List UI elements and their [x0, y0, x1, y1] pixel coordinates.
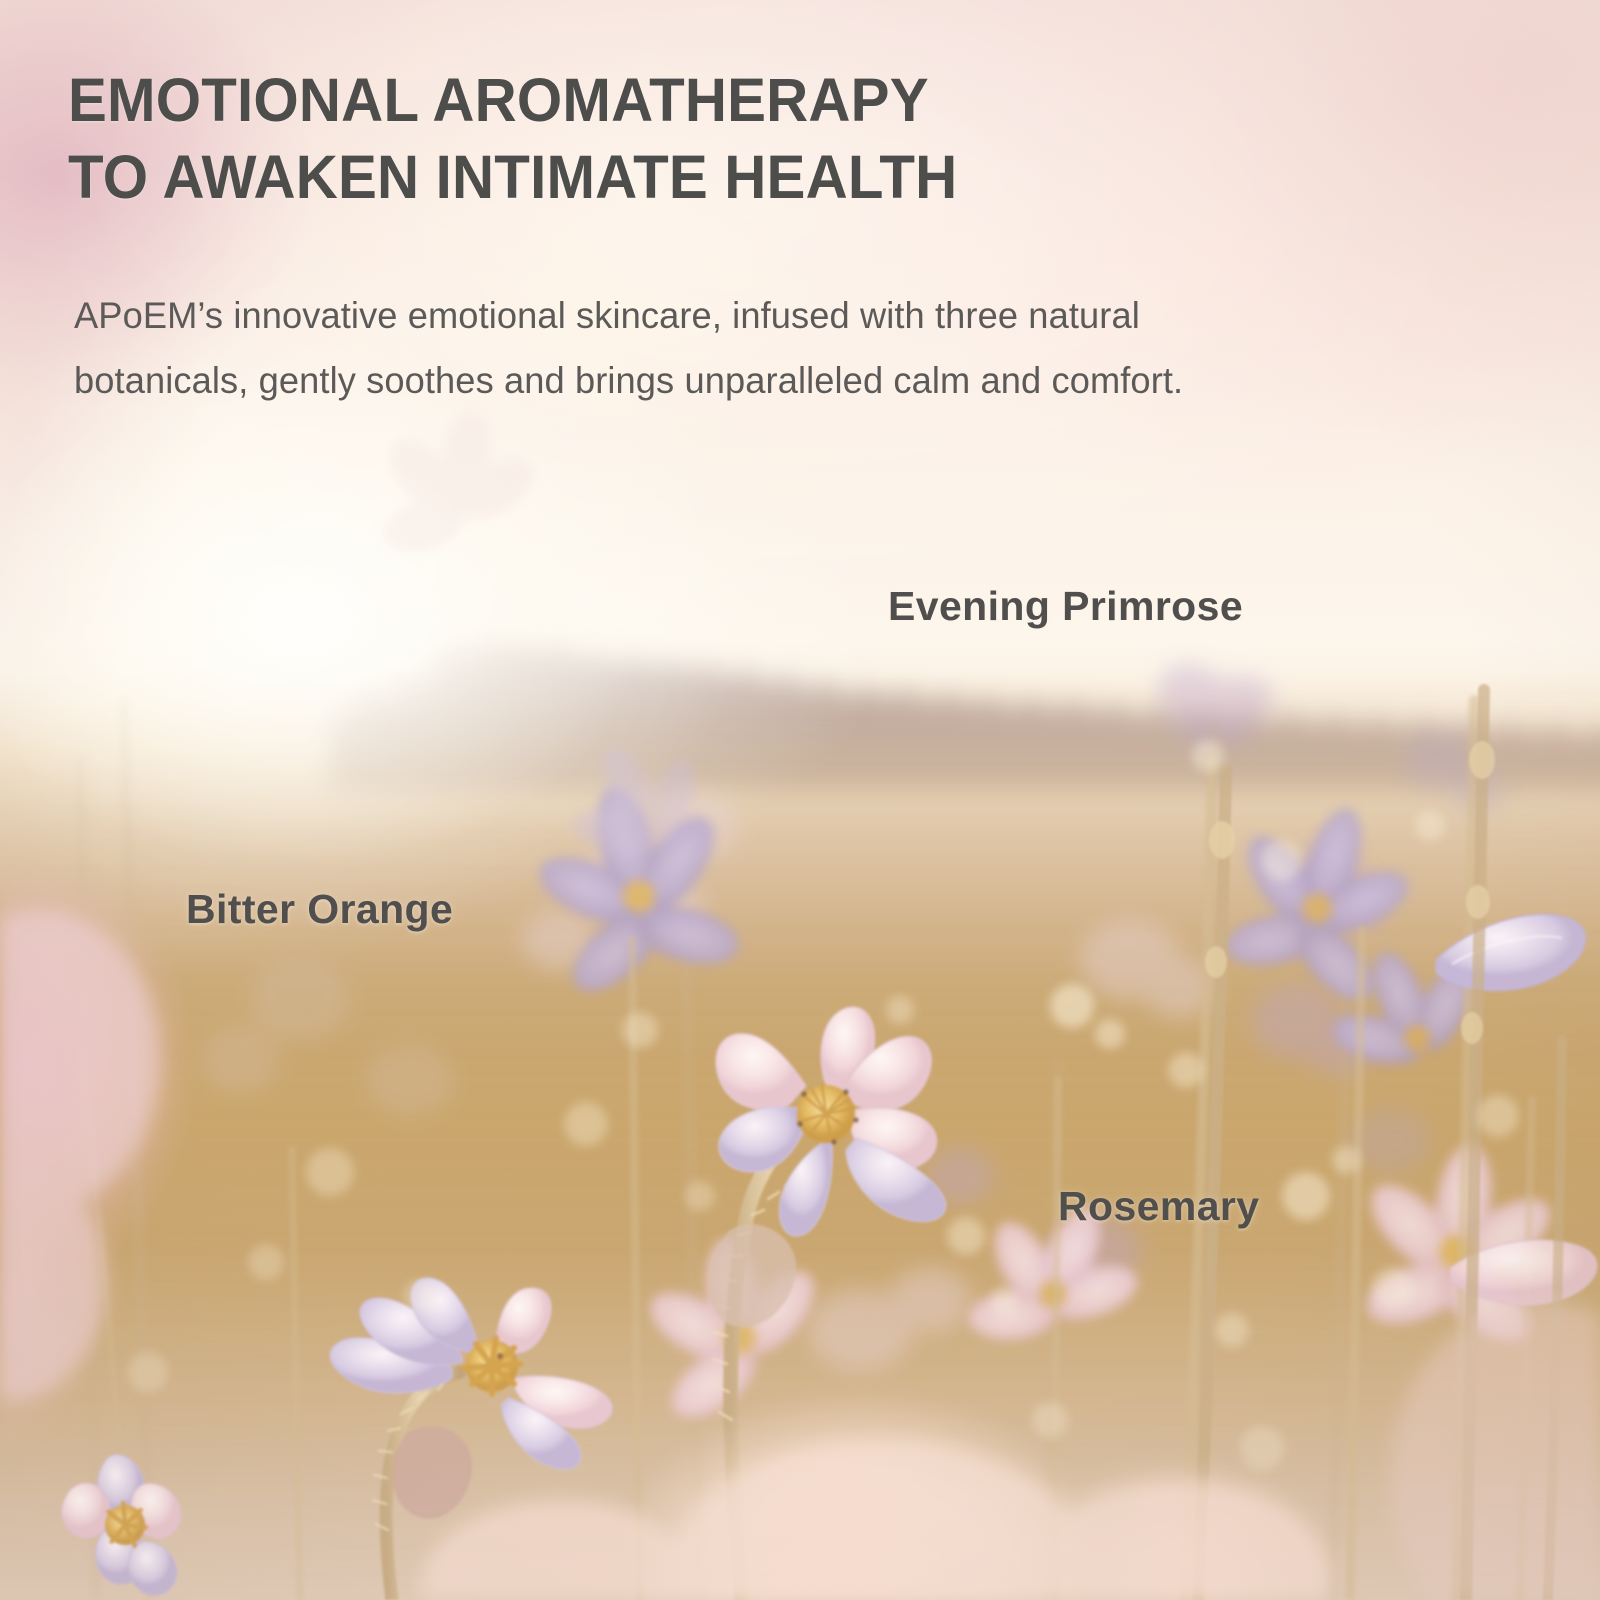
promotional-banner: EMOTIONAL AROMATHERAPY TO AWAKEN INTIMAT… [0, 0, 1600, 1600]
botanical-label-bitter-orange: Bitter Orange [186, 886, 453, 933]
botanical-label-evening-primrose: Evening Primrose [888, 583, 1243, 630]
subcopy-paragraph: APoEM’s innovative emotional skincare, i… [74, 283, 1230, 413]
headline-line-1: EMOTIONAL AROMATHERAPY [68, 62, 1214, 139]
page-title: EMOTIONAL AROMATHERAPY TO AWAKEN INTIMAT… [68, 62, 1214, 217]
botanical-label-rosemary: Rosemary [1058, 1183, 1259, 1230]
headline-line-2: TO AWAKEN INTIMATE HEALTH [68, 139, 1214, 216]
